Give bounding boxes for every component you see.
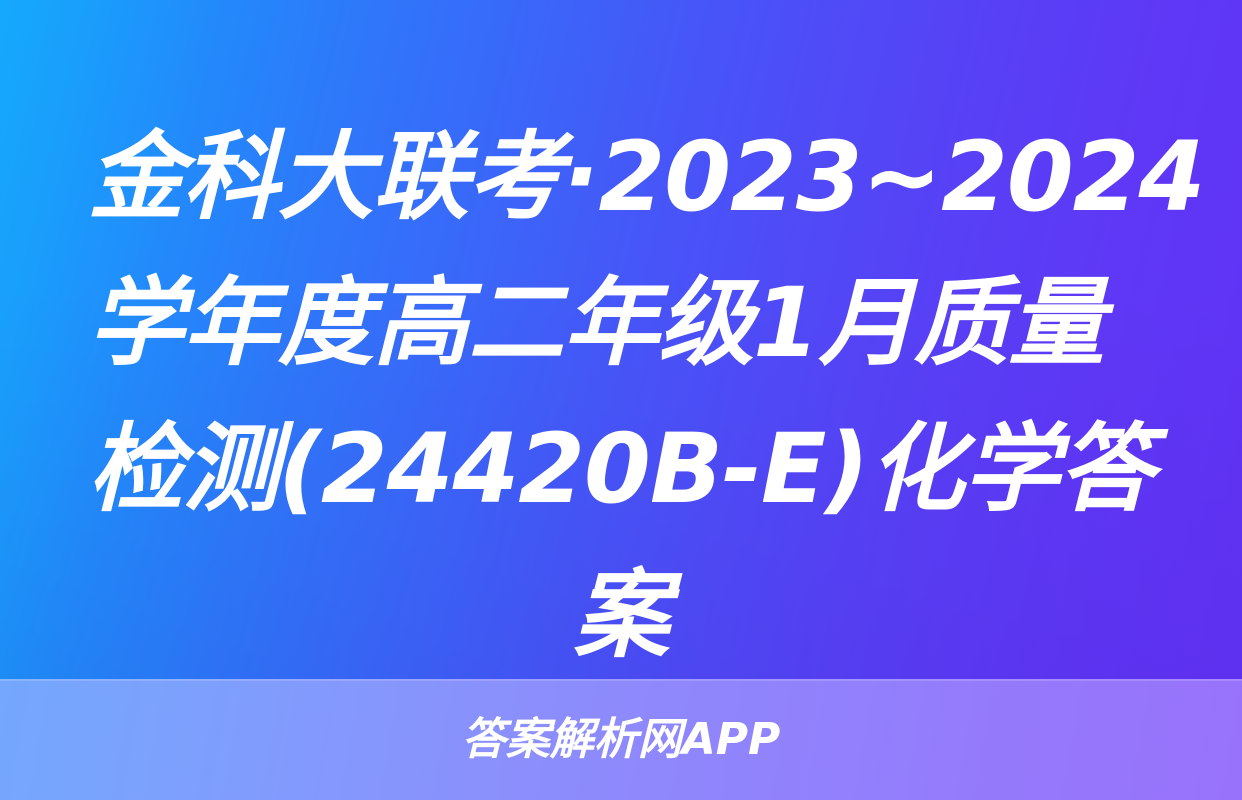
title-line-2: 学年度高二年级1月质量 (88, 250, 1154, 396)
page-title: 金科大联考·2023~2024 学年度高二年级1月质量 检测(24420B-E)… (88, 104, 1154, 688)
watermark: 答案解析网APP (0, 679, 1242, 800)
title-line-4: 案 (88, 542, 1154, 688)
title-line-3: 检测(24420B-E)化学答 (88, 396, 1154, 542)
answer-poster: 金科大联考·2023~2024 学年度高二年级1月质量 检测(24420B-E)… (0, 0, 1242, 800)
title-line-1: 金科大联考·2023~2024 (88, 104, 1154, 250)
footer-watermark-band: 答案解析网APP (0, 679, 1242, 800)
watermark-label: 答案解析网APP (462, 718, 781, 762)
